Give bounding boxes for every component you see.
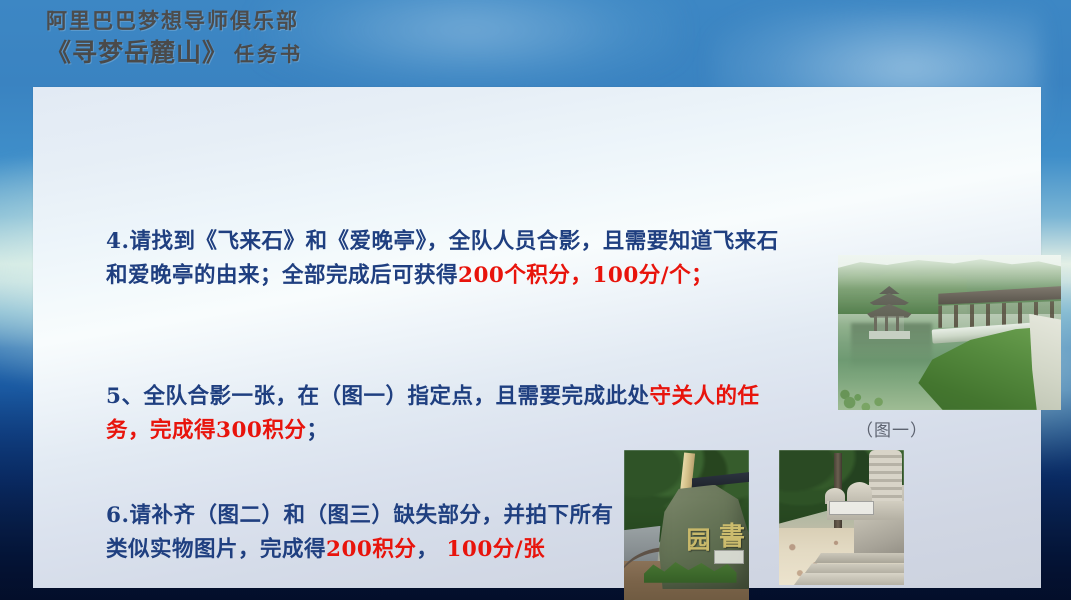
photo3-step-middle [804,563,904,574]
title-sub-text: 任务书 [234,42,303,66]
photo3-info-plate [829,501,874,515]
title-line-organization: 阿里巴巴梦想导师俱乐部 [46,10,303,31]
photo3-stone-column [869,450,902,504]
task-item-4: 4.请找到《飞来石》和《爱晚亭》，全队人员合影，且需要知道飞来石和爱晚亭的由来；… [106,225,796,293]
slide-title: 阿里巴巴梦想导师俱乐部 《寻梦岳麓山》任务书 [46,10,303,65]
photo3-step-bottom [794,573,904,585]
photo2-info-plate [714,550,744,565]
background-cloud-top-left [260,0,680,90]
task6-segment-3: 100分/张 [438,537,545,562]
task4-segment-1: 200个积分，100分/个； [458,263,713,288]
photo2-rock-character-2: 書 [719,516,745,553]
stone-steps-photo [779,450,904,585]
photo3-step-top [814,553,904,564]
photo1-mist-overlay [838,255,1061,410]
task5-segment-0: 5、全队合影一张，在（图一）指定点，且需要完成此处 [106,384,649,409]
content-panel: 4.请找到《飞来石》和《爱晚亭》，全队人员合影，且需要知道飞来石和爱晚亭的由来；… [33,87,1041,588]
photo2-rock-character-1: 园 [687,520,711,555]
task-item-6: 6.请补齐（图二）和（图三）缺失部分，并拍下所有类似实物图片，完成得200积分，… [106,499,616,567]
title-line-main: 《寻梦岳麓山》任务书 [46,40,303,65]
caption-figure-1: （图一） [856,416,928,441]
pavilion-lake-photo [838,255,1061,410]
carved-rock-photo: 园 書 [624,450,749,600]
task6-segment-2: ， [416,537,438,562]
title-main-text: 《寻梦岳麓山》 [46,38,228,67]
task6-segment-1: 200积分 [326,537,416,562]
task-item-5: 5、全队合影一张，在（图一）指定点，且需要完成此处守关人的任务，完成得300积分… [106,380,796,448]
slide-canvas: 阿里巴巴梦想导师俱乐部 《寻梦岳麓山》任务书 4.请找到《飞来石》和《爱晚亭》，… [0,0,1071,600]
task5-segment-2: ； [306,418,328,443]
